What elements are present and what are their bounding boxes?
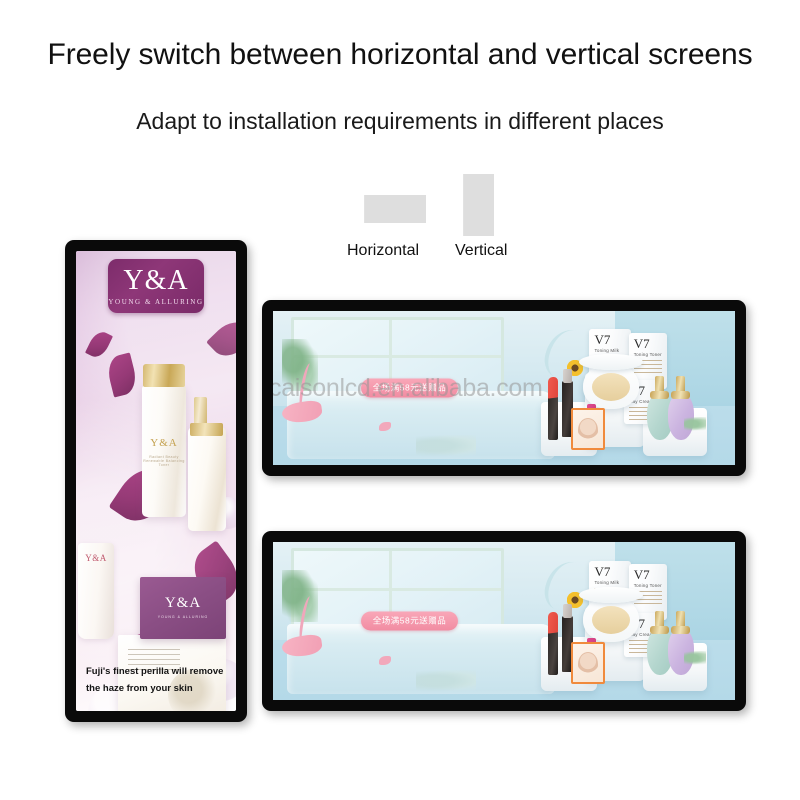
horizontal-display-monitor-1[interactable]: 全场满58元送赠品 V7 Toning Milk V7 Toning Toner — [262, 300, 746, 476]
vertical-display-monitor[interactable]: Y&A YOUNG & ALLURING Y&A Radiant Beauty … — [65, 240, 247, 722]
horizontal-rectangle-icon — [364, 195, 426, 223]
face-mask-pack — [571, 408, 605, 450]
leaf-decoration — [416, 435, 476, 457]
v7-product-sub: Toning Toner — [634, 352, 662, 357]
legend-label-horizontal: Horizontal — [347, 242, 419, 260]
vertical-rectangle-icon — [463, 174, 494, 236]
compact-pan — [592, 373, 630, 401]
bottle-sub-label: Radiant Beauty Renewable Balancing Toner — [142, 455, 186, 467]
carton-brand-name: Y&A — [140, 595, 226, 612]
page-root: Freely switch between horizontal and ver… — [0, 0, 800, 800]
cushion-compact — [583, 363, 639, 409]
horizontal-ad-artwork-2: 全场满58元送赠品 V7 Toning Milk V7 Toning Toner — [273, 542, 735, 700]
face-mask-pack — [571, 642, 605, 684]
toner-bottle: Y&A Radiant Beauty Renewable Balancing T… — [142, 385, 186, 517]
promo-banner: 全场满58元送赠品 — [361, 612, 458, 631]
vertical-display-screen: Y&A YOUNG & ALLURING Y&A Radiant Beauty … — [76, 251, 236, 711]
carton-brand-tagline: YOUNG & ALLURING — [140, 615, 226, 619]
compact-lid — [579, 587, 643, 603]
page-title: Freely switch between horizontal and ver… — [0, 38, 800, 72]
legend-label-vertical: Vertical — [455, 242, 507, 260]
v7-product-name: V7 — [594, 333, 610, 346]
compact-pan — [592, 606, 630, 634]
v7-product-name: V7 — [634, 337, 650, 350]
tube-brand-label: Y&A — [78, 553, 114, 563]
v7-product-name: V7 — [634, 568, 650, 581]
vertical-ad-artwork: Y&A YOUNG & ALLURING Y&A Radiant Beauty … — [76, 251, 236, 711]
brand-name: Y&A — [123, 267, 188, 295]
petal-decoration — [206, 314, 236, 363]
promo-banner: 全场满58元送赠品 — [361, 379, 458, 398]
cream-tube: Y&A — [78, 543, 114, 639]
plant-decoration — [282, 570, 318, 622]
lipstick — [548, 631, 558, 675]
v7-product-sub: Toning Milk — [594, 348, 619, 353]
brand-tagline: YOUNG & ALLURING — [108, 298, 203, 306]
horizontal-display-screen-1: 全场满58元送赠品 V7 Toning Milk V7 Toning Toner — [273, 311, 735, 465]
sprig-decoration — [684, 651, 706, 665]
page-subtitle: Adapt to installation requirements in di… — [0, 108, 800, 135]
bottle-cap — [143, 364, 185, 387]
serum-pump-bottle — [188, 427, 226, 531]
petal-decoration — [105, 352, 140, 397]
plant-decoration — [282, 339, 318, 391]
horizontal-display-screen-2: 全场满58元送赠品 V7 Toning Milk V7 Toning Toner — [273, 542, 735, 700]
lipstick — [548, 396, 558, 440]
v7-product-name: V7 — [594, 565, 610, 578]
mask-face-image — [578, 418, 598, 442]
product-carton-purple: Y&A YOUNG & ALLURING — [140, 577, 226, 639]
leaf-decoration — [416, 670, 476, 692]
horizontal-ad-artwork-1: 全场满58元送赠品 V7 Toning Milk V7 Toning Toner — [273, 311, 735, 465]
cushion-compact — [583, 596, 639, 642]
sprig-decoration — [684, 417, 706, 431]
v7-product-sub: Toning Milk — [594, 580, 619, 585]
brand-badge: Y&A YOUNG & ALLURING — [108, 259, 204, 313]
bottle-brand-label: Y&A — [142, 437, 186, 449]
ad-caption: Fuji's finest perilla will remove the ha… — [86, 663, 226, 697]
pump-collar — [190, 423, 223, 436]
horizontal-display-monitor-2[interactable]: 全场满58元送赠品 V7 Toning Milk V7 Toning Toner — [262, 531, 746, 711]
v7-product-sub: Toning Toner — [634, 583, 662, 588]
petal-decoration — [85, 328, 113, 360]
mask-face-image — [578, 652, 598, 676]
